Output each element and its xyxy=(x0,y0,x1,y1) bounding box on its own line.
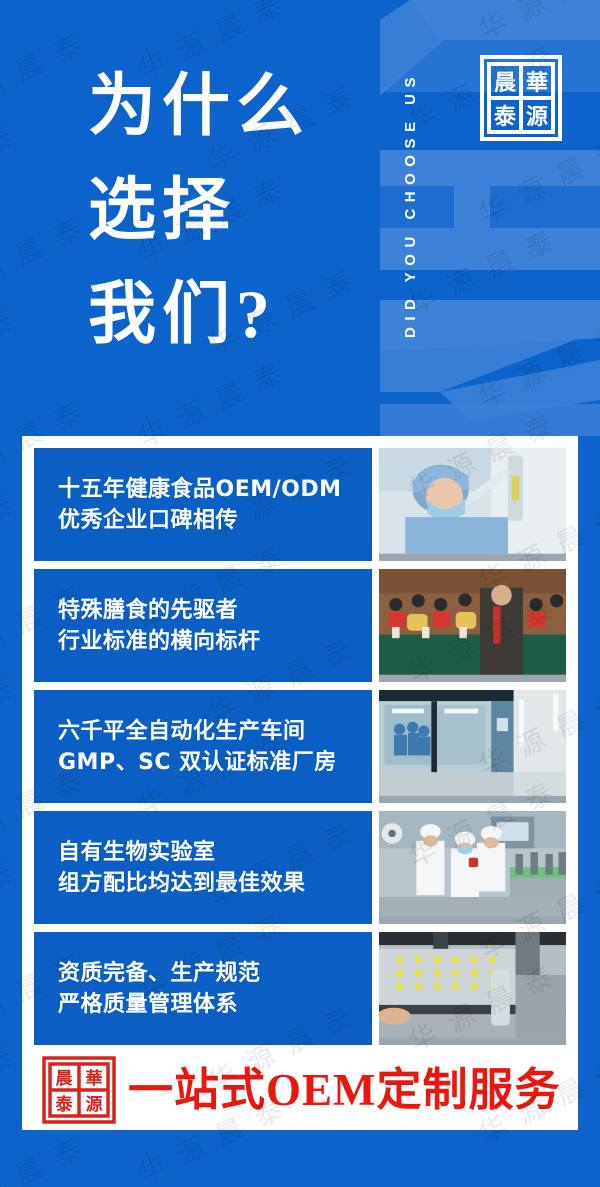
svg-text:華: 華 xyxy=(86,1069,103,1089)
company-seal-icon: 晨 華 泰 源 xyxy=(477,52,565,144)
feature-card[interactable]: 六千平全自动化生产车间 GMP、SC 双认证标准厂房 xyxy=(34,690,566,803)
footer-slogan: 一站式OEM定制服务 xyxy=(128,1060,561,1120)
feature-card-text: 自有生物实验室 组方配比均达到最佳效果 xyxy=(34,811,372,924)
company-seal-red-icon: 晨 華 泰 源 xyxy=(40,1055,118,1125)
footer-slogan-bar: 晨 華 泰 源 一站式OEM定制服务 xyxy=(34,1053,566,1127)
title-line-2: 选择 xyxy=(88,158,388,262)
vertical-tagline-text: DID YOU CHOOSE US xyxy=(402,71,419,338)
svg-text:華: 華 xyxy=(526,71,548,96)
feature-card-line: 严格质量管理体系 xyxy=(58,989,372,1020)
feature-card-line: 自有生物实验室 xyxy=(58,837,372,868)
feature-card-list: 十五年健康食品OEM/ODM 优秀企业口碑相传 xyxy=(34,448,566,1045)
feature-card[interactable]: 十五年健康食品OEM/ODM 优秀企业口碑相传 xyxy=(34,448,566,561)
title-line-3: 我们? xyxy=(88,262,388,366)
feature-card-line: GMP、SC 双认证标准厂房 xyxy=(58,747,372,778)
feature-card[interactable]: 资质完备、生产规范 严格质量管理体系 xyxy=(34,932,566,1045)
feature-card-text: 六千平全自动化生产车间 GMP、SC 双认证标准厂房 xyxy=(34,690,372,803)
photo-lab-technician-pipette xyxy=(379,448,566,561)
feature-card-line: 六千平全自动化生产车间 xyxy=(58,716,372,747)
svg-text:泰: 泰 xyxy=(493,105,517,130)
feature-card-text: 特殊膳食的先驱者 行业标准的横向标杆 xyxy=(34,569,372,682)
photo-production-line-workers xyxy=(379,811,566,924)
feature-card-text: 十五年健康食品OEM/ODM 优秀企业口碑相传 xyxy=(34,448,372,561)
feature-card-line: 行业标准的横向标杆 xyxy=(58,626,372,657)
feature-card-line: 资质完备、生产规范 xyxy=(58,958,372,989)
svg-text:晨: 晨 xyxy=(56,1069,74,1089)
feature-card-line: 特殊膳食的先驱者 xyxy=(58,595,372,626)
content-panel: 十五年健康食品OEM/ODM 优秀企业口碑相传 xyxy=(22,436,578,1130)
photo-tablet-packaging-machine xyxy=(379,932,566,1045)
feature-card-line: 组方配比均达到最佳效果 xyxy=(58,868,372,899)
feature-card-text: 资质完备、生产规范 严格质量管理体系 xyxy=(34,932,372,1045)
vertical-tagline: DID YOU CHOOSE US xyxy=(393,12,427,396)
title-line-1: 为什么 xyxy=(88,54,388,158)
feature-card-line: 优秀企业口碑相传 xyxy=(58,505,372,536)
feature-card[interactable]: 特殊膳食的先驱者 行业标准的横向标杆 xyxy=(34,569,566,682)
photo-conference-audience xyxy=(379,569,566,682)
photo-cleanroom-corridor xyxy=(379,690,566,803)
svg-text:泰: 泰 xyxy=(56,1094,74,1115)
svg-text:源: 源 xyxy=(86,1094,103,1115)
page-title: 为什么 选择 我们? xyxy=(88,54,388,366)
feature-card-line: 十五年健康食品OEM/ODM xyxy=(58,474,372,505)
svg-text:源: 源 xyxy=(526,105,548,130)
header: 为什么 选择 我们? DID YOU CHOOSE US 晨 華 泰 源 xyxy=(0,0,600,436)
feature-card[interactable]: 自有生物实验室 组方配比均达到最佳效果 xyxy=(34,811,566,924)
poster-root: 为什么 选择 我们? DID YOU CHOOSE US 晨 華 泰 源 xyxy=(0,0,600,1187)
svg-text:晨: 晨 xyxy=(494,71,517,96)
